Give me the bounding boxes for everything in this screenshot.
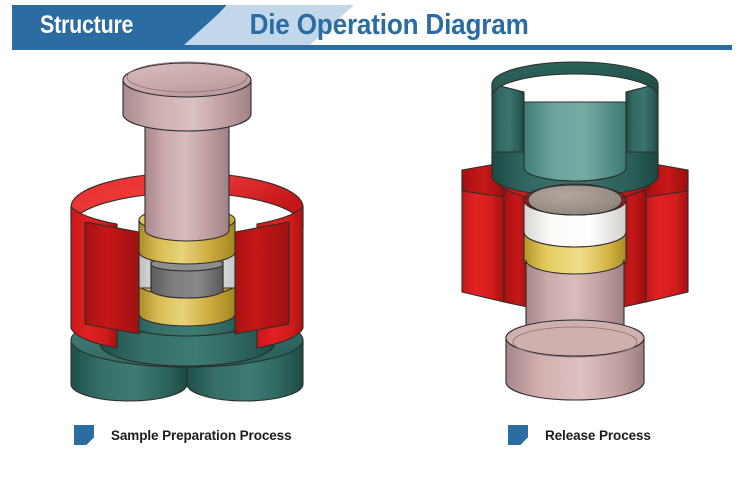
caption-sample-preparation: Sample Preparation Process: [74, 422, 291, 448]
page-header: Structure Die Operation Diagram: [0, 0, 750, 52]
release-illustration: [440, 52, 710, 412]
caption-marker-icon: [508, 425, 528, 445]
caption-sample-preparation-label: Sample Preparation Process: [111, 428, 291, 443]
figure-captions: Sample Preparation Process Release Proce…: [0, 422, 750, 462]
figure-release: [440, 52, 710, 412]
caption-marker-icon: [74, 425, 94, 445]
header-underline-rule: [12, 45, 732, 50]
die-body-cut-right: [235, 222, 289, 334]
page-title: Die Operation Diagram: [48, 9, 696, 42]
caption-release-label: Release Process: [545, 428, 651, 443]
lower-plunger-flange: [506, 320, 644, 400]
header-band: Structure Die Operation Diagram: [12, 5, 732, 45]
sample-preparation-illustration: [55, 52, 315, 412]
upper-plunger-cap: [123, 62, 251, 131]
figure-sample-preparation: [55, 52, 315, 412]
diagram-stage: [0, 52, 750, 422]
release-cap-cavity: [524, 102, 626, 181]
caption-release: Release Process: [508, 422, 651, 448]
die-body-cut-left: [85, 222, 139, 334]
